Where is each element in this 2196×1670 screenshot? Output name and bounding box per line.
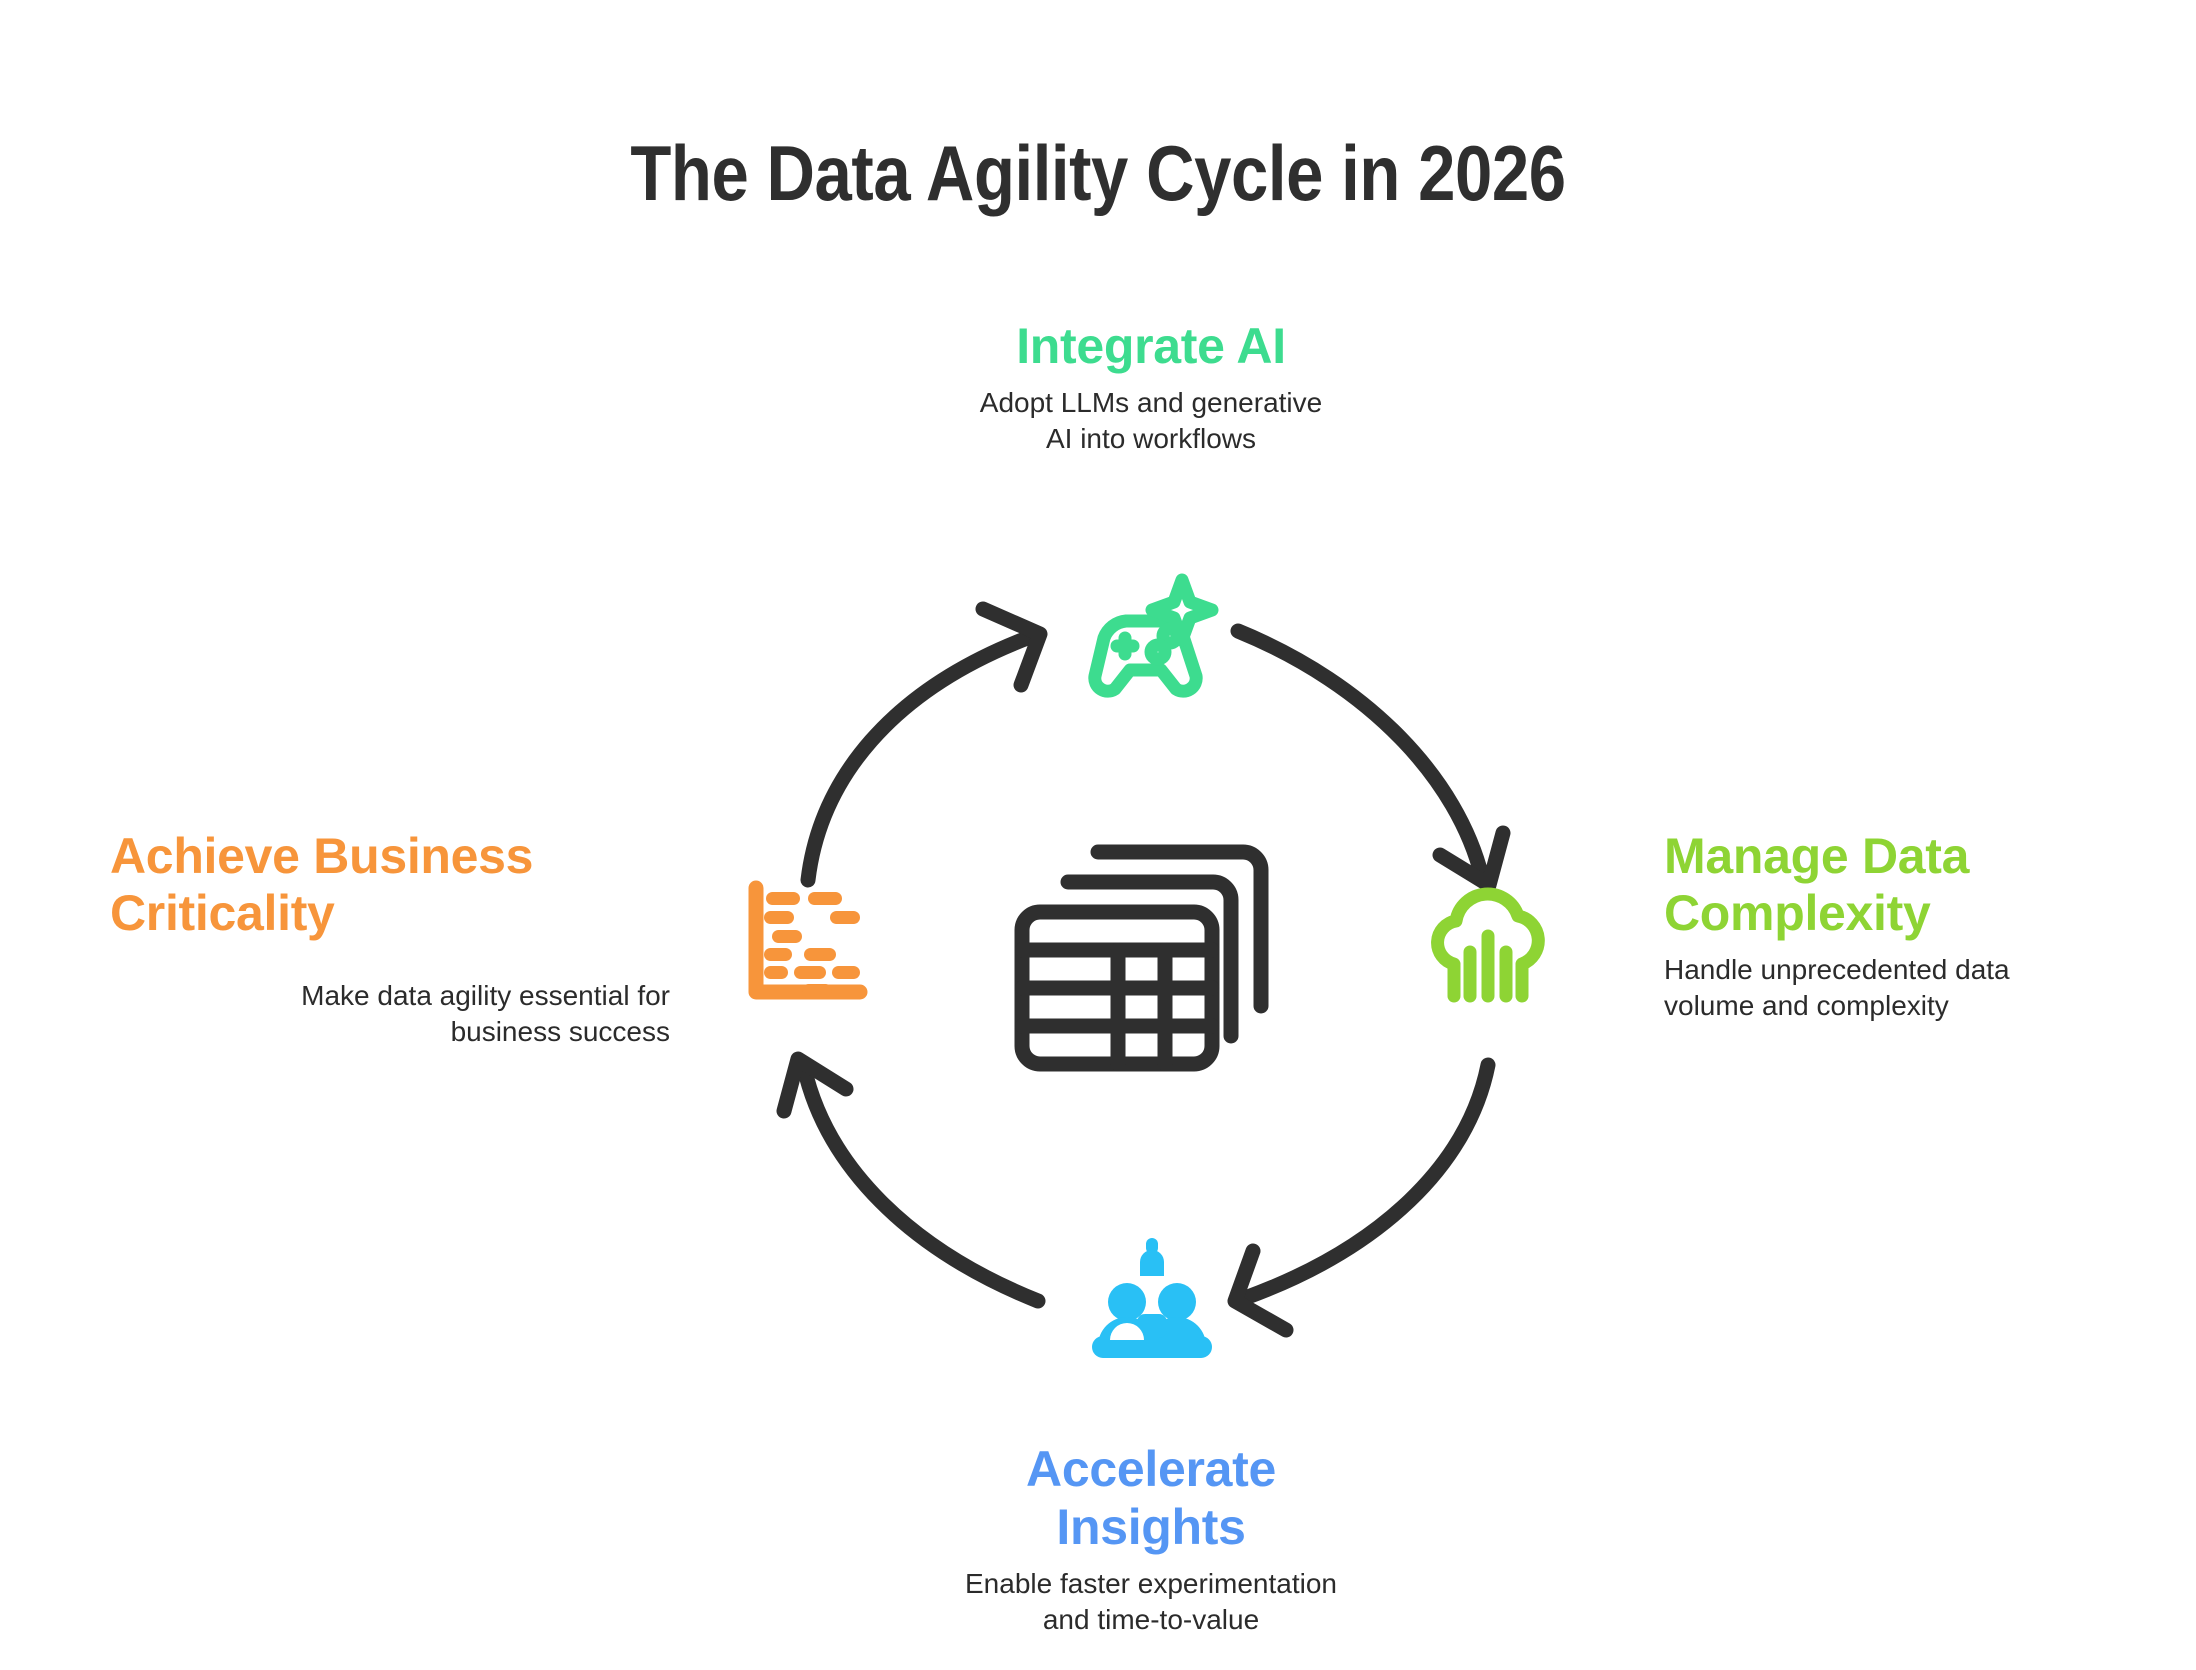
node-heading-line1: Achieve Business <box>110 828 533 884</box>
node-heading-accelerate-insights: Accelerate Insights <box>846 1440 1456 1556</box>
arc-right-to-bottom <box>1235 1065 1488 1330</box>
node-label-manage-data-complexity: Manage Data Complexity Handle unpreceden… <box>1664 828 2114 1024</box>
node-desc-line1: Handle unprecedented data <box>1664 954 2010 985</box>
cloud-data-bars-icon <box>1418 878 1558 1018</box>
node-heading-line1: Manage Data <box>1664 828 1969 884</box>
arc-bottom-to-left <box>784 1059 1038 1301</box>
node-label-integrate-ai: Integrate AI Adopt LLMs and generative A… <box>846 318 1456 457</box>
node-heading-line1: Accelerate <box>1026 1441 1276 1497</box>
node-heading-manage-data-complexity: Manage Data Complexity <box>1664 828 2114 942</box>
people-group-icon <box>1082 1228 1222 1368</box>
node-heading-integrate-ai: Integrate AI <box>846 318 1456 375</box>
node-desc-manage-data-complexity: Handle unprecedented data volume and com… <box>1664 952 2114 1024</box>
node-desc-line2: volume and complexity <box>1664 990 1949 1021</box>
node-desc-line1: Adopt LLMs and generative <box>980 387 1322 418</box>
horizontal-bar-chart-icon <box>742 880 882 1020</box>
node-desc-line1: Enable faster experimentation <box>965 1568 1337 1599</box>
node-desc-line1: Make data agility essential for <box>301 980 670 1011</box>
diagram-canvas: The Data Agility Cycle in 2026 <box>0 0 2196 1670</box>
node-desc-integrate-ai: Adopt LLMs and generative AI into workfl… <box>846 385 1456 457</box>
node-heading-line2: Insights <box>1056 1499 1245 1555</box>
node-desc-line2: business success <box>451 1016 670 1047</box>
node-desc-line2: AI into workflows <box>1046 423 1256 454</box>
node-desc-line2: and time-to-value <box>1043 1604 1259 1635</box>
node-heading-line2: Criticality <box>110 885 335 941</box>
node-label-achieve-business-criticality: Achieve Business Criticality Make data a… <box>110 828 670 1050</box>
node-desc-accelerate-insights: Enable faster experimentation and time-t… <box>846 1566 1456 1638</box>
page-title: The Data Agility Cycle in 2026 <box>154 128 2043 219</box>
game-controller-sparkle-icon <box>1078 566 1228 716</box>
node-heading-line2: Complexity <box>1664 885 1931 941</box>
node-desc-achieve-business-criticality: Make data agility essential for business… <box>110 978 670 1050</box>
stacked-data-tables-icon <box>1000 830 1300 1090</box>
node-label-accelerate-insights: Accelerate Insights Enable faster experi… <box>846 1440 1456 1638</box>
node-heading-achieve-business-criticality: Achieve Business Criticality <box>110 828 670 942</box>
